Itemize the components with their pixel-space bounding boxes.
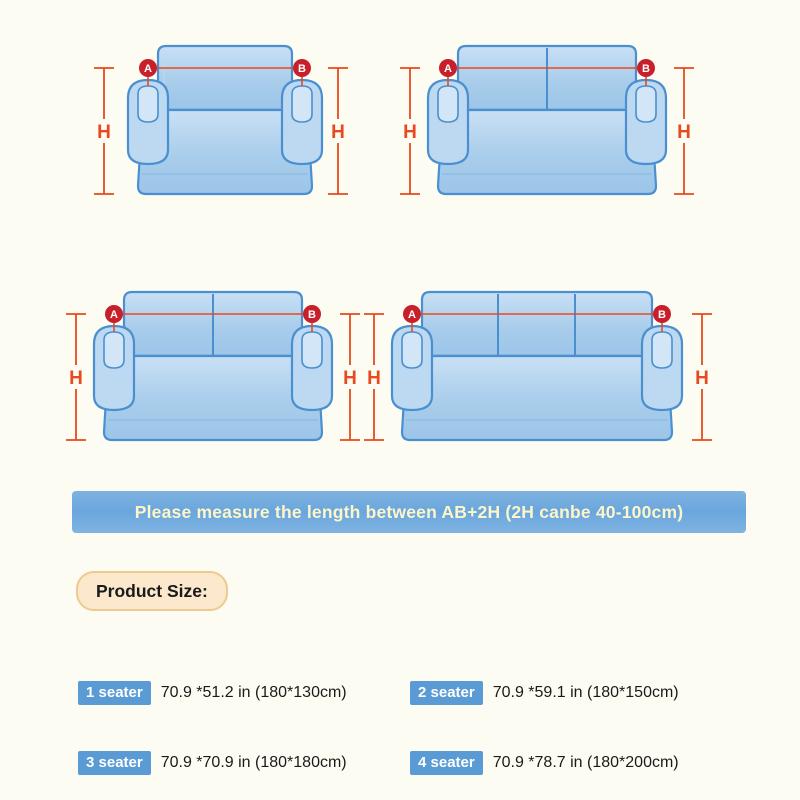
sofa-diagram-1-seater: A B H H [86,24,376,209]
svg-text:A: A [444,63,452,75]
svg-text:B: B [298,63,306,75]
svg-text:B: B [642,63,650,75]
dimension-h-right: H [340,314,360,440]
dimension-h-left: H [94,68,114,194]
size-tag-2-seater: 2 seater [410,681,483,705]
dimension-h-right: H [674,68,694,194]
svg-text:A: A [144,63,152,75]
svg-text:B: B [308,309,316,321]
svg-text:H: H [367,368,381,389]
dimension-h-left: H [400,68,420,194]
size-row-4-seater: 4 seater 70.9 *78.7 in (180*200cm) [410,751,679,775]
size-value-2-seater: 70.9 *59.1 in (180*150cm) [493,684,679,702]
svg-text:A: A [110,309,118,321]
dimension-h-right: H [328,68,348,194]
size-tag-3-seater: 3 seater [78,751,151,775]
svg-text:H: H [695,368,709,389]
size-value-4-seater: 70.9 *78.7 in (180*200cm) [493,754,679,772]
marker-point-b: B [637,59,655,77]
marker-point-a: A [139,59,157,77]
svg-text:A: A [408,309,416,321]
size-tag-4-seater: 4 seater [410,751,483,775]
marker-point-b: B [293,59,311,77]
measure-instruction-banner: Please measure the length between AB+2H … [72,491,746,533]
product-size-title: Product Size: [96,581,208,602]
measure-instruction-text: Please measure the length between AB+2H … [135,502,684,523]
product-size-heading: Product Size: [76,571,228,611]
svg-text:H: H [69,368,83,389]
size-tag-1-seater: 1 seater [78,681,151,705]
size-value-1-seater: 70.9 *51.2 in (180*130cm) [161,684,347,702]
product-size-infographic: A B H H [0,0,800,800]
svg-text:H: H [97,122,111,143]
svg-text:H: H [343,368,357,389]
svg-text:B: B [658,309,666,321]
sofa-diagram-3-seater: A B H H [66,270,376,455]
dimension-h-right: H [692,314,712,440]
svg-text:H: H [403,122,417,143]
marker-point-b: B [653,305,671,323]
size-value-3-seater: 70.9 *70.9 in (180*180cm) [161,754,347,772]
sofa-diagram-4-seater: A B H H [358,270,728,455]
sofa-diagram-2-seater: A B H H [400,24,710,209]
svg-text:H: H [677,122,691,143]
dimension-h-left: H [66,314,86,440]
marker-point-b: B [303,305,321,323]
marker-point-a: A [403,305,421,323]
size-row-1-seater: 1 seater 70.9 *51.2 in (180*130cm) [78,681,347,705]
dimension-h-left: H [364,314,384,440]
size-row-3-seater: 3 seater 70.9 *70.9 in (180*180cm) [78,751,347,775]
size-row-2-seater: 2 seater 70.9 *59.1 in (180*150cm) [410,681,679,705]
marker-point-a: A [439,59,457,77]
marker-point-a: A [105,305,123,323]
svg-text:H: H [331,122,345,143]
